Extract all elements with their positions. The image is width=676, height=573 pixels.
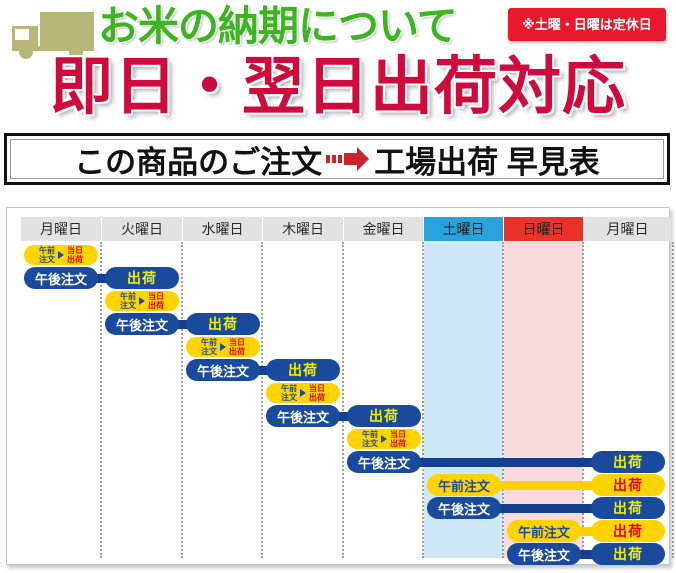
triangle-arrow-icon: [300, 389, 306, 397]
order-pill-label: 午後注文: [197, 361, 249, 380]
pm-order-pill[interactable]: 午後注文: [347, 451, 421, 473]
sameday-ship-label: 当日出荷: [67, 246, 83, 264]
flow-connector: [494, 504, 598, 513]
order-pill-label: 午後注文: [116, 315, 168, 334]
triangle-arrow-icon: [58, 251, 64, 259]
am-order-label: 午前注文: [362, 430, 378, 448]
shipping-schedule-table: 月曜日火曜日水曜日木曜日金曜日土曜日日曜日月曜日午前注文当日出荷午後注文出荷午前…: [6, 207, 670, 565]
order-pill-label: 午前注文: [438, 476, 490, 495]
sameday-order-pill[interactable]: 午前注文当日出荷: [347, 429, 421, 449]
header-section: お米の納期について ※土曜・日曜は定休日 即日・翌日出荷対応: [0, 0, 676, 128]
sameday-ship-label: 当日出荷: [148, 292, 164, 310]
ship-pill[interactable]: 出荷: [591, 451, 665, 473]
order-pill-label: 午後注文: [35, 269, 87, 288]
flow-banner: この商品のご注文 工場出荷 早見表: [4, 133, 670, 185]
flow-banner-inner: この商品のご注文 工場出荷 早見表: [10, 139, 664, 179]
am-order-label: 午前注文: [281, 384, 297, 402]
sameday-ship-label: 当日出荷: [309, 384, 325, 402]
column-header-月曜日: 月曜日: [21, 217, 101, 241]
flow-connector: [414, 458, 598, 467]
sameday-ship-label: 当日出荷: [229, 338, 245, 356]
am-order-pill[interactable]: 午前注文: [507, 520, 581, 542]
triangle-arrow-icon: [220, 343, 226, 351]
pm-order-pill[interactable]: 午後注文: [266, 405, 340, 427]
flow-connector: [494, 481, 598, 490]
pm-order-pill[interactable]: 午後注文: [427, 497, 501, 519]
order-pill-label: 午後注文: [518, 545, 570, 564]
pm-order-pill[interactable]: 午後注文: [186, 359, 260, 381]
triangle-arrow-icon: [139, 297, 145, 305]
order-pill-label: 午後注文: [438, 499, 490, 518]
ship-pill-label: 出荷: [613, 544, 643, 564]
order-pill-label: 午後注文: [358, 453, 410, 472]
status-badge: ※土曜・日曜は定休日: [508, 8, 666, 41]
pm-order-pill[interactable]: 午後注文: [105, 313, 179, 335]
am-order-label: 午前注文: [201, 338, 217, 356]
ship-pill[interactable]: 出荷: [105, 267, 179, 289]
ship-pill[interactable]: 出荷: [266, 359, 340, 381]
ship-pill[interactable]: 出荷: [591, 474, 665, 496]
am-order-pill[interactable]: 午前注文: [427, 474, 501, 496]
column-header-水曜日: 水曜日: [183, 217, 262, 241]
column-header-月曜日: 月曜日: [584, 217, 671, 241]
ship-pill[interactable]: 出荷: [591, 497, 665, 519]
column-header-土曜日: 土曜日: [424, 217, 503, 241]
column-header-日曜日: 日曜日: [504, 217, 583, 241]
column-divider-8: [672, 242, 674, 558]
ship-pill-label: 出荷: [613, 452, 643, 472]
ship-pill-label: 出荷: [613, 521, 643, 541]
column-header-金曜日: 金曜日: [344, 217, 423, 241]
triangle-arrow-icon: [381, 435, 387, 443]
banner-label-shipping: 工場出荷 早見表: [374, 137, 600, 182]
closed-days-note: ※土曜・日曜は定休日: [508, 8, 666, 41]
sameday-ship-label: 当日出荷: [390, 430, 406, 448]
page-title: お米の納期について: [98, 2, 508, 50]
ship-pill-label: 出荷: [288, 360, 318, 380]
order-pill-label: 午後注文: [277, 407, 329, 426]
column-divider-1: [100, 242, 102, 558]
sameday-order-pill[interactable]: 午前注文当日出荷: [186, 337, 260, 357]
ship-pill-label: 出荷: [208, 314, 238, 334]
sameday-order-pill[interactable]: 午前注文当日出荷: [266, 383, 340, 403]
pm-order-pill[interactable]: 午後注文: [507, 543, 581, 565]
banner-label-order: この商品のご注文: [74, 137, 322, 182]
am-order-label: 午前注文: [120, 292, 136, 310]
column-header-火曜日: 火曜日: [102, 217, 182, 241]
ship-pill-label: 出荷: [613, 498, 643, 518]
right-arrow-icon: [326, 146, 370, 172]
column-divider-5: [422, 242, 424, 558]
ship-pill[interactable]: 出荷: [186, 313, 260, 335]
column-divider-2: [181, 242, 183, 558]
ship-pill[interactable]: 出荷: [347, 405, 421, 427]
ship-pill-label: 出荷: [613, 475, 643, 495]
ship-pill[interactable]: 出荷: [591, 520, 665, 542]
ship-pill-label: 出荷: [127, 268, 157, 288]
column-divider-3: [261, 242, 263, 558]
sameday-order-pill[interactable]: 午前注文当日出荷: [105, 291, 179, 311]
page-subtitle: 即日・翌日出荷対応: [0, 50, 676, 124]
ship-pill-label: 出荷: [369, 406, 399, 426]
column-divider-4: [342, 242, 344, 558]
am-order-label: 午前注文: [39, 246, 55, 264]
sameday-order-pill[interactable]: 午前注文当日出荷: [24, 245, 98, 265]
pm-order-pill[interactable]: 午後注文: [24, 267, 98, 289]
column-header-木曜日: 木曜日: [263, 217, 343, 241]
ship-pill[interactable]: 出荷: [591, 543, 665, 565]
order-pill-label: 午前注文: [518, 522, 570, 541]
